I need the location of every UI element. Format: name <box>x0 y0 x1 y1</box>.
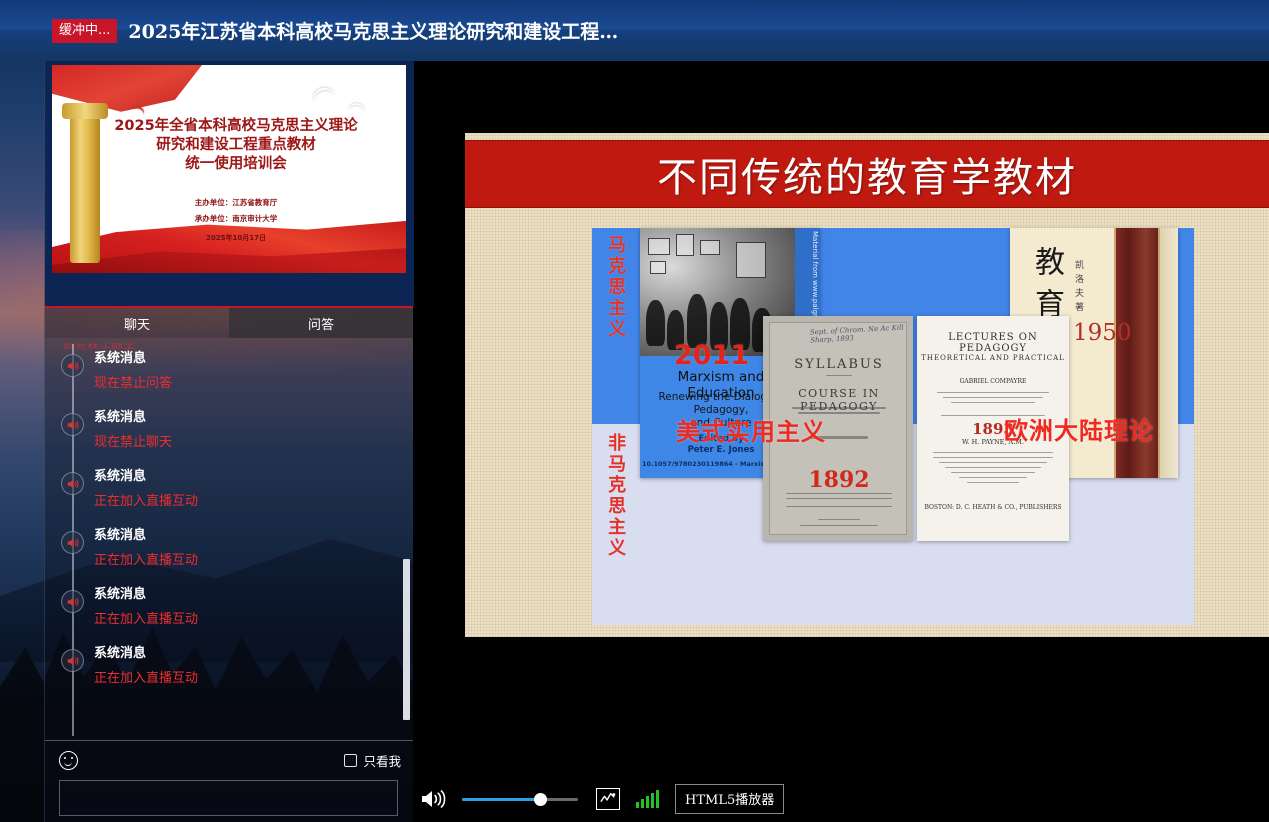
speaker-icon <box>61 649 84 672</box>
message-sender: 系统消息 <box>94 587 399 603</box>
stats-graph-icon[interactable] <box>596 788 620 810</box>
list-item: 系统消息 正在加入直播互动 <box>45 462 413 521</box>
label-continental-theory: 欧洲大陆理论 <box>1004 411 1154 446</box>
list-item: 系统消息 正在加入直播互动 <box>45 639 413 698</box>
chat-composer: 只看我 <box>45 740 413 822</box>
book-subtitle: COURSE IN PEDAGOGY <box>770 387 908 413</box>
page-title: 2025年江苏省本科高校马克思主义理论研究和建设工程… <box>128 17 618 44</box>
signal-bars-icon[interactable] <box>636 790 659 808</box>
thumbnail-title-line-3: 统一使用培训会 <box>86 155 386 174</box>
tab-chat[interactable]: 聊天 <box>45 308 229 338</box>
speaker-icon <box>61 413 84 436</box>
speaker-icon <box>61 531 84 554</box>
book-title: SYLLABUS <box>770 357 908 372</box>
chat-scrollbar[interactable] <box>403 338 410 740</box>
page-header: 缓冲中... 2025年江苏省本科高校马克思主义理论研究和建设工程… <box>0 0 1269 61</box>
thumbnail-title-line-2: 研究和建设工程重点教材 <box>86 136 386 155</box>
message-text: 正在加入直播互动 <box>94 671 399 687</box>
message-sender: 系统消息 <box>94 351 399 367</box>
book-author: 凯洛夫著 <box>1072 260 1085 316</box>
thumbnail-host: 承办单位：南京审计大学 <box>86 213 386 224</box>
chat-scrollbar-thumb[interactable] <box>403 559 410 720</box>
book-subtitle: THEORETICAL AND PRACTICAL <box>917 354 1069 362</box>
book-doi: 10.1057/9780230119864 - Marxism <box>642 460 771 468</box>
speaker-icon <box>61 354 84 377</box>
message-sender: 系统消息 <box>94 646 399 662</box>
sidebar-tabs: 聊天 问答 <box>45 306 413 338</box>
message-sender: 系统消息 <box>94 469 399 485</box>
player-type-label: HTML5播放器 <box>675 784 784 814</box>
slide-thumbnail-panel[interactable]: 2025年全省本科高校马克思主义理论 研究和建设工程重点教材 统一使用培训会 主… <box>45 61 414 306</box>
book-year-1950: 1950 <box>1073 320 1132 346</box>
message-text: 正在加入直播互动 <box>94 612 399 628</box>
volume-slider[interactable] <box>462 792 578 806</box>
chat-message-list[interactable]: 现在禁止聊天 系统消息 现在禁止问答 系统消息 现在禁止聊天 <box>45 338 413 740</box>
speaker-icon[interactable] <box>420 788 446 810</box>
book-title: LECTURES ON PEDAGOGY <box>917 332 1069 354</box>
message-text: 正在加入直播互动 <box>94 553 399 569</box>
video-stage[interactable]: 不同传统的教育学教材 马克思主义 非马克思主义 <box>413 61 1269 822</box>
speaker-icon <box>61 590 84 613</box>
volume-fill <box>462 798 541 801</box>
checkbox-icon[interactable] <box>344 754 357 767</box>
thumbnail-date: 2025年10月17日 <box>86 233 386 243</box>
only-me-label: 只看我 <box>363 751 401 770</box>
thumbnail-bottom-strip <box>45 273 414 306</box>
message-text: 现在禁止问答 <box>94 376 399 392</box>
player-control-bar: HTML5播放器 <box>413 776 1269 822</box>
slide-thumbnail-image: 2025年全省本科高校马克思主义理论 研究和建设工程重点教材 统一使用培训会 主… <box>52 65 406 273</box>
message-sender: 系统消息 <box>94 410 399 426</box>
chat-input[interactable] <box>59 780 398 816</box>
label-pragmatism: 美式实用主义 <box>676 412 826 447</box>
list-item: 系统消息 现在禁止问答 <box>45 344 413 403</box>
message-text: 现在禁止聊天 <box>94 435 399 451</box>
message-text: 正在加入直播互动 <box>94 494 399 510</box>
list-item: 系统消息 正在加入直播互动 <box>45 521 413 580</box>
slide-title: 不同传统的教育学教材 <box>657 145 1077 203</box>
thumbnail-title-line-1: 2025年全省本科高校马克思主义理论 <box>86 117 386 136</box>
book-page-edge <box>1160 228 1178 478</box>
slide-title-bar: 不同传统的教育学教材 <box>465 140 1269 208</box>
book-year-2011: 2011 <box>674 340 749 371</box>
list-item: 系统消息 正在加入直播互动 <box>45 580 413 639</box>
composer-toolbar: 只看我 <box>59 749 401 771</box>
label-non-marxism: 非马克思主义 <box>602 433 628 559</box>
book-year-1892: 1892 <box>770 467 908 493</box>
live-sidebar-panel: 2025年全省本科高校马克思主义理论 研究和建设工程重点教材 统一使用培训会 主… <box>44 61 413 822</box>
volume-knob[interactable] <box>534 793 547 806</box>
desktop-background: 缓冲中... 2025年江苏省本科高校马克思主义理论研究和建设工程… 2025年… <box>0 0 1269 822</box>
speaker-icon <box>61 472 84 495</box>
thumbnail-title: 2025年全省本科高校马克思主义理论 研究和建设工程重点教材 统一使用培训会 <box>86 117 386 174</box>
book-handwriting: Sept. of Chrom. Ne Ac Kill Sharp, 1893 <box>810 324 906 345</box>
status-badge-buffering: 缓冲中... <box>52 19 117 43</box>
emoji-icon[interactable] <box>59 751 78 770</box>
label-marxism: 马克思主义 <box>602 235 628 340</box>
tab-qa[interactable]: 问答 <box>229 308 413 338</box>
only-me-toggle[interactable]: 只看我 <box>344 751 401 770</box>
book-author: GABRIEL COMPAYRE <box>917 378 1069 385</box>
dove-icon <box>311 85 336 102</box>
list-item: 系统消息 现在禁止聊天 <box>45 403 413 462</box>
thumbnail-organizer: 主办单位：江苏省教育厅 <box>86 197 386 208</box>
message-sender: 系统消息 <box>94 528 399 544</box>
book-publisher: BOSTON: D. C. HEATH & CO., PUBLISHERS <box>917 504 1069 511</box>
dove-icon <box>348 102 366 113</box>
presentation-slide: 不同传统的教育学教材 马克思主义 非马克思主义 <box>465 133 1269 637</box>
